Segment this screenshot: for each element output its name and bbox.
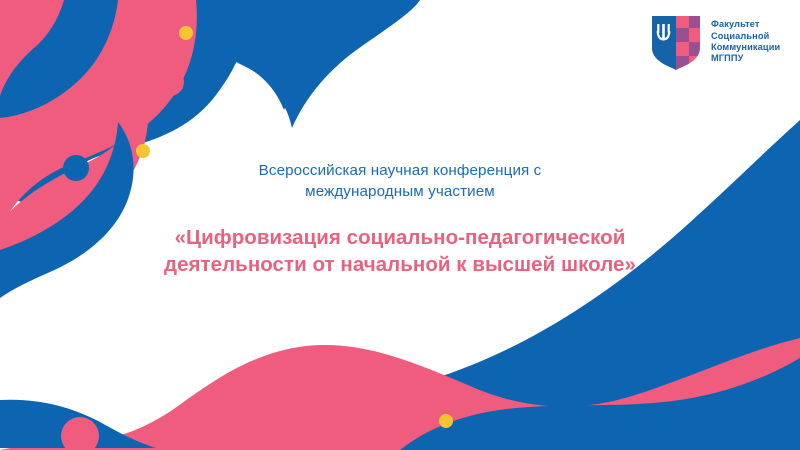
blue-dot-bottom-right: [693, 318, 737, 362]
psi-trident-icon: [657, 24, 671, 41]
conference-title-slide: Факультет Социальной Коммуникации МГППУ …: [0, 0, 800, 450]
conference-subtitle-line-2: международным участием: [0, 181, 800, 202]
mgppu-shield-logo-icon: [650, 14, 702, 70]
blue-crest-bottom-center: [400, 358, 800, 450]
yellow-dot-bottom: [439, 414, 453, 428]
logo-text-line-3: Коммуникации: [711, 42, 780, 53]
logo-text-line-4: МГППУ: [711, 53, 780, 64]
conference-title: «Цифровизация социально-педагогической д…: [0, 224, 800, 278]
blue-blob-upper-right: [192, 0, 380, 110]
yellow-dot-left: [136, 144, 150, 158]
pink-dot-bottom-left: [61, 417, 99, 450]
blue-sweep-top: [196, 0, 420, 128]
slide-text-block: Всероссийская научная конференция с межд…: [0, 160, 800, 278]
pink-dot-upper: [156, 68, 184, 96]
pink-wave-bottom: [0, 338, 800, 450]
conference-subtitle: Всероссийская научная конференция с межд…: [0, 160, 800, 202]
conference-title-line-2: деятельности от начальной к высшей школе…: [0, 251, 800, 278]
yellow-dot-top: [179, 26, 193, 40]
logo-text-line-2: Социальной: [711, 31, 780, 42]
logo-text-line-1: Факультет: [711, 19, 780, 30]
faculty-logo-text: Факультет Социальной Коммуникации МГППУ: [711, 19, 780, 65]
conference-title-line-1: «Цифровизация социально-педагогической: [0, 224, 800, 251]
faculty-logo: Факультет Социальной Коммуникации МГППУ: [650, 14, 780, 70]
blue-sliver-bottom-left: [0, 400, 156, 448]
blue-dot-bottom-mid: [582, 371, 612, 401]
pink-band-left: [0, 0, 64, 96]
conference-subtitle-line-1: Всероссийская научная конференция с: [0, 160, 800, 181]
